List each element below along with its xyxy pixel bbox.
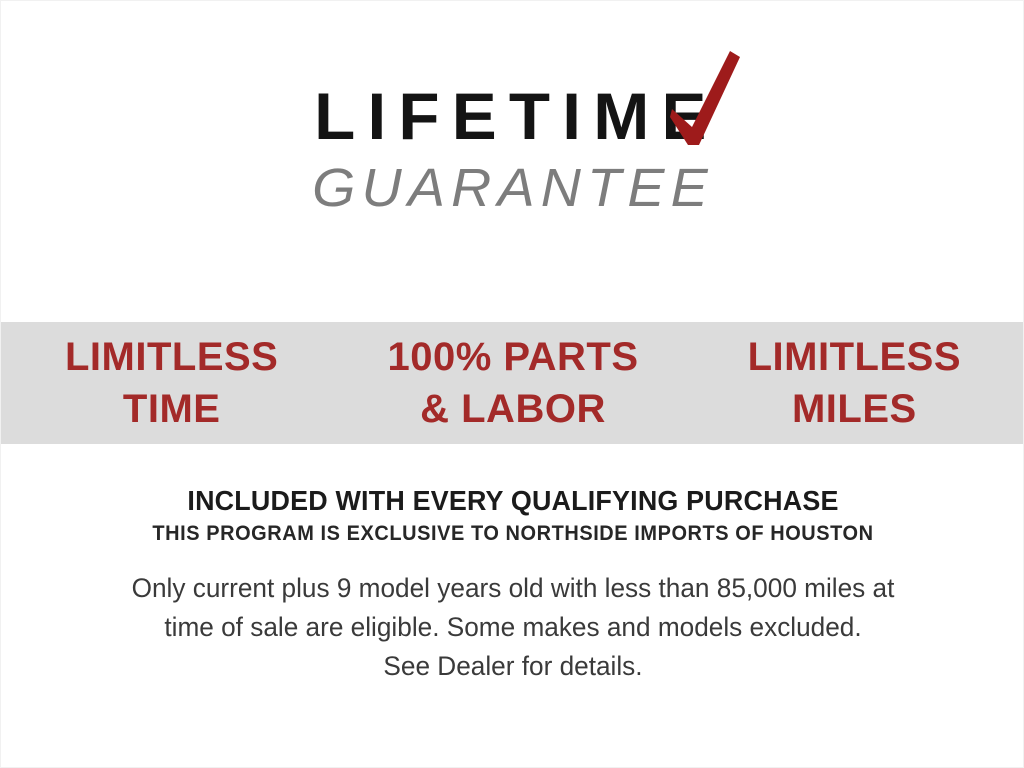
feature-line-2: TIME: [7, 383, 336, 435]
feature-line-1: LIMITLESS: [7, 331, 336, 383]
wordmark-guarantee: GUARANTEE: [0, 157, 1024, 219]
headline-block: INCLUDED WITH EVERY QUALIFYING PURCHASE …: [1, 484, 1024, 548]
wordmark-lifetime: LIFETIME: [308, 79, 719, 153]
feature-banner: LIMITLESS TIME 100% PARTS & LABOR LIMITL…: [1, 322, 1024, 444]
feature-line-1: LIMITLESS: [690, 331, 1019, 383]
disclaimer-line-2: time of sale are eligible. Some makes an…: [16, 608, 1009, 647]
headline-secondary: THIS PROGRAM IS EXCLUSIVE TO NORTHSIDE I…: [27, 519, 1000, 548]
disclaimer-line-1: Only current plus 9 model years old with…: [16, 569, 1009, 608]
brand-logo: LIFETIME GUARANTEE: [1, 79, 1024, 219]
headline-primary: INCLUDED WITH EVERY QUALIFYING PURCHASE: [21, 484, 1004, 517]
disclaimer-line-3: See Dealer for details.: [16, 647, 1009, 686]
feature-line-1: 100% PARTS: [348, 331, 677, 383]
feature-line-2: & LABOR: [348, 383, 677, 435]
feature-column-limitless-time: LIMITLESS TIME: [1, 331, 342, 435]
feature-line-2: MILES: [690, 383, 1019, 435]
feature-column-parts-labor: 100% PARTS & LABOR: [342, 331, 683, 435]
disclaimer-block: Only current plus 9 model years old with…: [1, 569, 1024, 686]
lifetime-guarantee-ad: LIFETIME GUARANTEE LIMITLESS TIME 100% P…: [0, 0, 1024, 768]
wordmark-row: LIFETIME: [312, 79, 715, 153]
feature-column-limitless-miles: LIMITLESS MILES: [684, 331, 1024, 435]
